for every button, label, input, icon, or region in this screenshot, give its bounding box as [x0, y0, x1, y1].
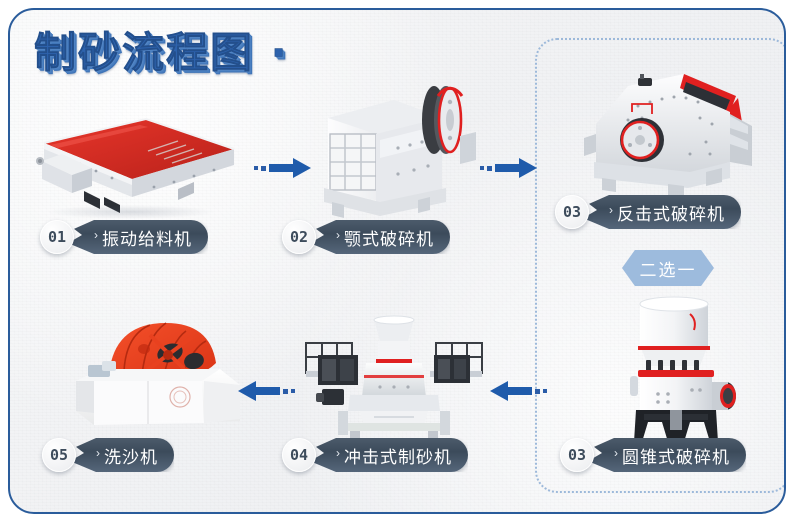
- machine-cone-crusher: [614, 290, 754, 450]
- chevron-right-icon: ›: [336, 229, 340, 241]
- station-label-03-cone[interactable]: 03 › 圆锥式破碎机: [560, 438, 746, 472]
- arrow-dot: [535, 389, 540, 394]
- chevron-right-icon: ›: [96, 447, 100, 459]
- flowchart-stage: 制砂流程图 ·: [0, 0, 800, 530]
- station-label-text: 洗沙机: [104, 443, 158, 468]
- station-number-badge: 03: [560, 438, 594, 472]
- arrow-feeder-to-jaw: [254, 157, 311, 179]
- arrow-cone-to-vsi: [490, 380, 547, 402]
- alternative-selector-badge: 二选一: [622, 250, 714, 286]
- station-label-02[interactable]: 02 › 颚式破碎机: [282, 220, 450, 254]
- arrow-dot: [261, 166, 266, 171]
- station-pill[interactable]: › 冲击式制砂机: [310, 438, 468, 472]
- chevron-right-icon: ›: [336, 447, 340, 459]
- station-label-text: 反击式破碎机: [617, 200, 725, 225]
- station-label-01[interactable]: 01 › 振动给料机: [40, 220, 208, 254]
- station-number-badge: 01: [40, 220, 74, 254]
- station-label-04[interactable]: 04 › 冲击式制砂机: [282, 438, 468, 472]
- arrow-vsi-to-washer: [238, 380, 295, 402]
- page-title: 制砂流程图 ·: [34, 32, 289, 74]
- arrow-dot: [283, 389, 288, 394]
- machine-vibrating-feeder: [28, 105, 238, 215]
- station-pill[interactable]: › 圆锥式破碎机: [588, 438, 746, 472]
- arrow-dot: [291, 389, 295, 393]
- station-label-text: 冲击式制砂机: [344, 443, 452, 468]
- station-number-badge: 04: [282, 438, 316, 472]
- station-label-text: 颚式破碎机: [344, 225, 434, 250]
- arrow-dot: [254, 166, 258, 170]
- station-pill[interactable]: › 振动给料机: [68, 220, 208, 254]
- station-label-text: 圆锥式破碎机: [622, 443, 730, 468]
- station-label-05[interactable]: 05 › 洗沙机: [42, 438, 174, 472]
- station-number-badge: 05: [42, 438, 76, 472]
- machine-jaw-crusher: [310, 78, 480, 223]
- arrow-dot: [487, 166, 492, 171]
- machine-vsi-sand-maker: [288, 315, 493, 440]
- arrow-dot: [543, 389, 547, 393]
- chevron-right-icon: ›: [609, 204, 613, 216]
- machine-impact-crusher: [580, 62, 765, 202]
- chevron-right-icon: ›: [94, 229, 98, 241]
- station-number-badge: 03: [555, 195, 589, 229]
- arrow-jaw-to-impact: [480, 157, 537, 179]
- arrow-right-icon: [495, 157, 537, 179]
- station-pill[interactable]: › 颚式破碎机: [310, 220, 450, 254]
- station-number-badge: 02: [282, 220, 316, 254]
- station-pill[interactable]: › 反击式破碎机: [583, 195, 741, 229]
- flowchart-card: 制砂流程图 ·: [8, 8, 786, 514]
- station-pill[interactable]: › 洗沙机: [70, 438, 174, 472]
- chevron-right-icon: ›: [614, 447, 618, 459]
- machine-sand-washer: [72, 315, 257, 440]
- station-label-03-impact[interactable]: 03 › 反击式破碎机: [555, 195, 741, 229]
- station-label-text: 振动给料机: [102, 225, 192, 250]
- arrow-left-icon: [238, 380, 280, 402]
- arrow-left-icon: [490, 380, 532, 402]
- arrow-dot: [480, 166, 484, 170]
- arrow-right-icon: [269, 157, 311, 179]
